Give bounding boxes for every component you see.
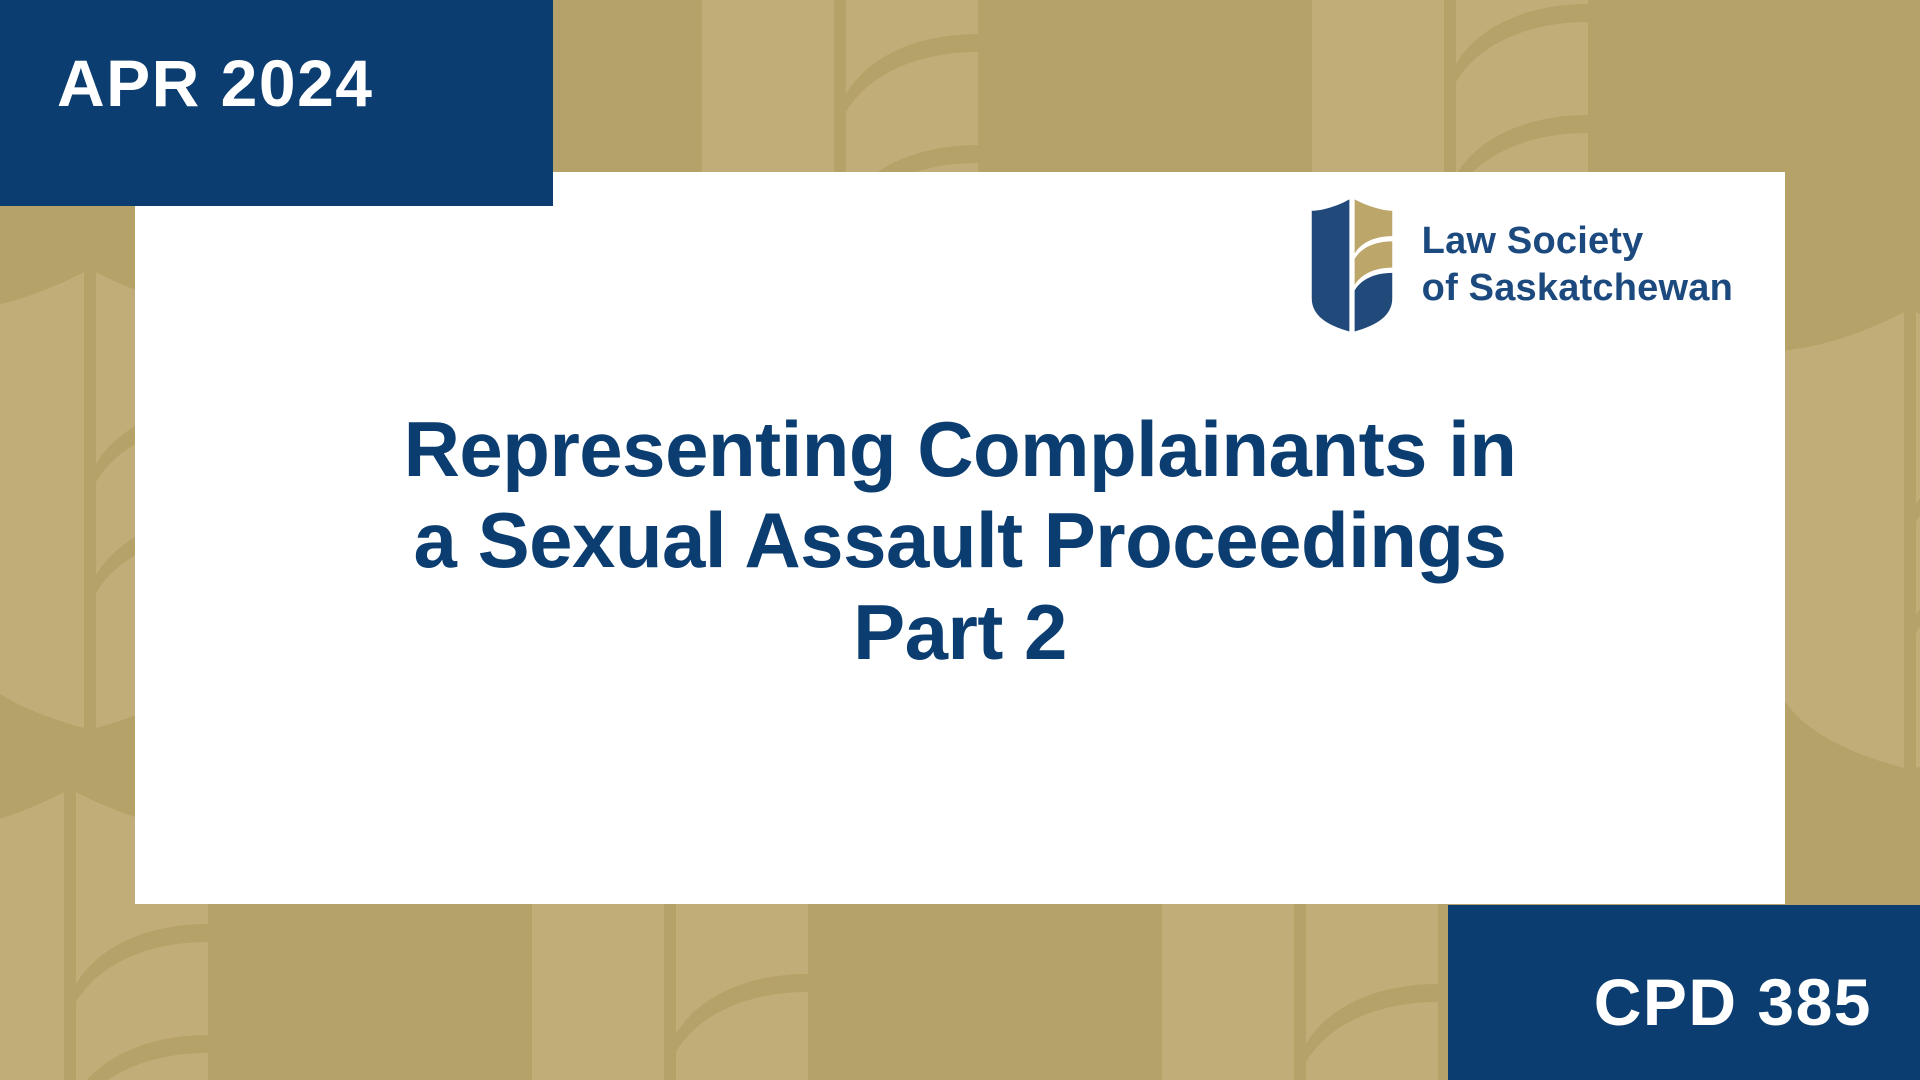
title-slide: APR 2024 Law Society of Saskatchewan Rep… [0,0,1920,1080]
logo-wordmark-line-2: of Saskatchewan [1422,265,1733,312]
title-line-2: a Sexual Assault Proceedings [183,495,1737,586]
title-line-1: Representing Complainants in [183,404,1737,495]
course-code-badge: CPD 385 [1448,905,1920,1080]
title-line-3: Part 2 [183,587,1737,678]
logo-wordmark-line-1: Law Society [1422,218,1733,265]
law-society-wordmark: Law Society of Saskatchewan [1422,218,1733,312]
page-title: Representing Complainants in a Sexual As… [135,404,1785,678]
content-card: Law Society of Saskatchewan Representing… [135,172,1785,904]
law-society-shield-icon [1308,195,1396,335]
law-society-logo: Law Society of Saskatchewan [1308,195,1733,335]
date-badge-label: APR 2024 [57,50,374,116]
course-code-label: CPD 385 [1594,969,1872,1035]
date-badge: APR 2024 [0,0,553,206]
